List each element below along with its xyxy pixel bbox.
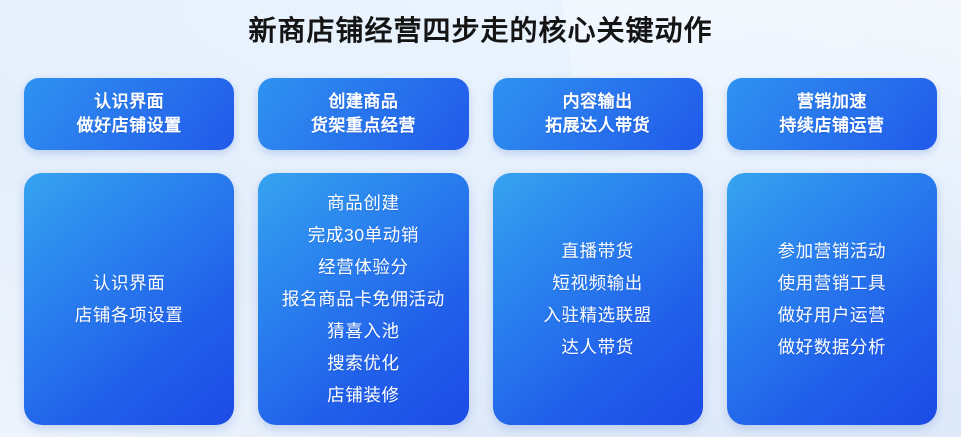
list-item: 短视频输出 <box>552 267 643 299</box>
step-column-2: 创建商品 货架重点经营 商品创建 完成30单动销 经营体验分 报名商品卡免佣活动… <box>258 78 468 425</box>
step-header-1-line-1: 认识界面 <box>94 90 164 114</box>
list-item: 商品创建 <box>327 187 399 219</box>
step-body-1[interactable]: 认识界面 店铺各项设置 <box>24 173 234 425</box>
list-item: 做好数据分析 <box>778 331 887 363</box>
step-header-3-line-2: 拓展达人带货 <box>545 114 650 138</box>
list-item: 达人带货 <box>561 331 633 363</box>
list-item: 搜索优化 <box>327 347 399 379</box>
step-header-3[interactable]: 内容输出 拓展达人带货 <box>493 78 703 150</box>
list-item: 猜喜入池 <box>327 315 399 347</box>
step-header-1-line-2: 做好店铺设置 <box>77 114 182 138</box>
list-item: 认识界面 <box>93 267 165 299</box>
list-item: 入驻精选联盟 <box>543 299 652 331</box>
step-header-3-line-1: 内容输出 <box>563 90 633 114</box>
step-header-4-line-2: 持续店铺运营 <box>779 114 884 138</box>
step-column-1: 认识界面 做好店铺设置 认识界面 店铺各项设置 <box>24 78 234 425</box>
list-item: 参加营销活动 <box>778 235 887 267</box>
step-body-4[interactable]: 参加营销活动 使用营销工具 做好用户运营 做好数据分析 <box>727 173 937 425</box>
list-item: 店铺各项设置 <box>75 299 184 331</box>
list-item: 使用营销工具 <box>778 267 887 299</box>
step-columns: 认识界面 做好店铺设置 认识界面 店铺各项设置 创建商品 货架重点经营 商品创建… <box>24 78 937 425</box>
infographic-poster: 新商店铺经营四步走的核心关键动作 认识界面 做好店铺设置 认识界面 店铺各项设置… <box>0 0 961 437</box>
list-item: 报名商品卡免佣活动 <box>282 283 445 315</box>
list-item: 店铺装修 <box>327 379 399 411</box>
step-header-1[interactable]: 认识界面 做好店铺设置 <box>24 78 234 150</box>
list-item: 做好用户运营 <box>778 299 887 331</box>
page-title: 新商店铺经营四步走的核心关键动作 <box>0 10 961 52</box>
step-header-2[interactable]: 创建商品 货架重点经营 <box>258 78 468 150</box>
step-body-2[interactable]: 商品创建 完成30单动销 经营体验分 报名商品卡免佣活动 猜喜入池 搜索优化 店… <box>258 173 468 425</box>
list-item: 直播带货 <box>561 235 633 267</box>
list-item: 经营体验分 <box>318 251 409 283</box>
step-column-3: 内容输出 拓展达人带货 直播带货 短视频输出 入驻精选联盟 达人带货 <box>493 78 703 425</box>
step-column-4: 营销加速 持续店铺运营 参加营销活动 使用营销工具 做好用户运营 做好数据分析 <box>727 78 937 425</box>
step-body-3[interactable]: 直播带货 短视频输出 入驻精选联盟 达人带货 <box>493 173 703 425</box>
step-header-2-line-2: 货架重点经营 <box>311 114 416 138</box>
step-header-4-line-1: 营销加速 <box>797 90 867 114</box>
list-item: 完成30单动销 <box>308 219 419 251</box>
step-header-2-line-1: 创建商品 <box>328 90 398 114</box>
step-header-4[interactable]: 营销加速 持续店铺运营 <box>727 78 937 150</box>
